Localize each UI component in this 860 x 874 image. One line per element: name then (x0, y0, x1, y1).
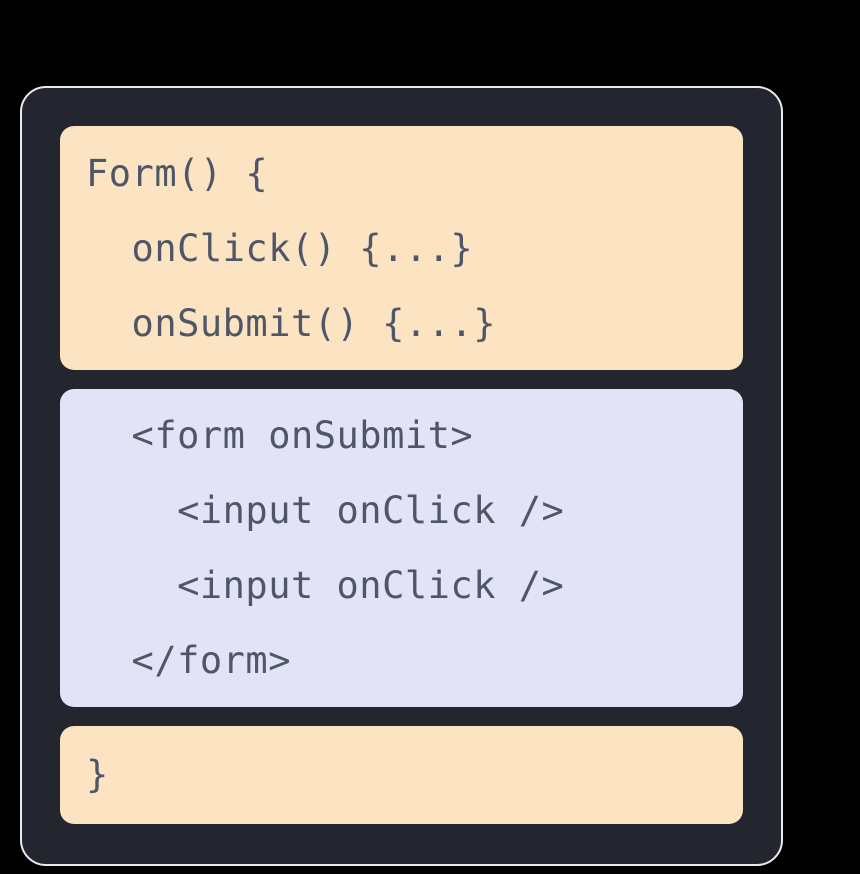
code-line: <input onClick /> (86, 473, 717, 548)
code-line: } (86, 748, 717, 802)
code-line: Form() { (86, 136, 717, 211)
component-markup-panel: <form onSubmit> <input onClick /> <input… (60, 389, 743, 707)
diagram-canvas: Form() { onClick() {...} onSubmit() {...… (0, 0, 860, 874)
code-line: onClick() {...} (86, 211, 717, 286)
code-line: <form onSubmit> (86, 398, 717, 473)
component-footer-panel: } (60, 726, 743, 824)
component-header-panel: Form() { onClick() {...} onSubmit() {...… (60, 126, 743, 370)
code-line: </form> (86, 623, 717, 698)
component-card: Form() { onClick() {...} onSubmit() {...… (20, 86, 783, 866)
code-line: onSubmit() {...} (86, 286, 717, 361)
code-line: <input onClick /> (86, 548, 717, 623)
